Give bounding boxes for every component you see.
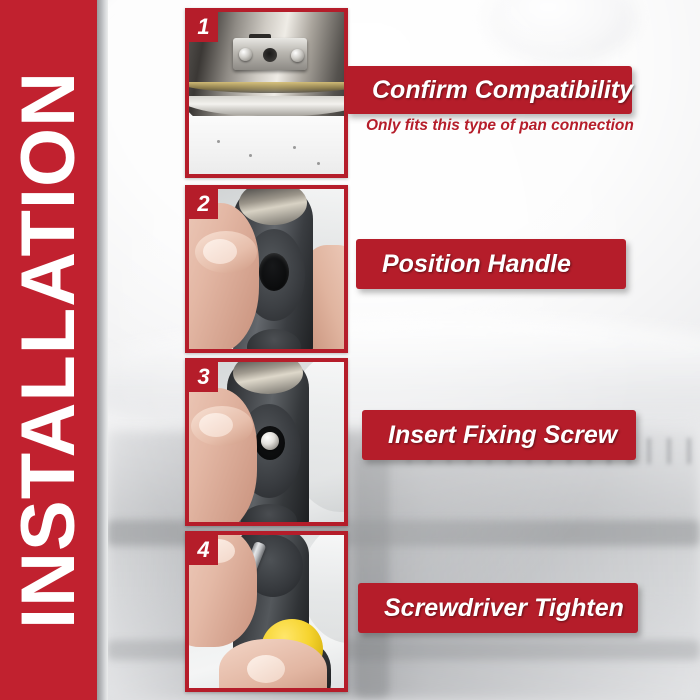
step-label-2-text: Position Handle (356, 252, 571, 277)
step-number-badge-3: 3 (189, 362, 218, 392)
step-label-3[interactable]: Insert Fixing Screw (362, 410, 636, 460)
step-number-badge-4: 4 (189, 535, 218, 565)
step-label-4[interactable]: Screwdriver Tighten (358, 583, 638, 633)
panel1-speck (317, 162, 320, 165)
step-photo-3[interactable]: 3 (185, 358, 348, 526)
panel1-rivet-right (291, 49, 304, 62)
step-number-badge-2: 2 (189, 189, 218, 219)
step-number-badge-1: 1 (189, 12, 218, 42)
panel4-fingernail (247, 655, 285, 683)
installation-banner-title: INSTALLATION (11, 71, 87, 629)
panel2-hand-left (189, 203, 259, 349)
panel3-fixing-screw (261, 432, 279, 450)
panel1-counter-surface (189, 116, 344, 174)
panel1-speck (217, 140, 220, 143)
step-label-2[interactable]: Position Handle (356, 239, 626, 289)
panel1-rivet-left (239, 48, 252, 61)
step-photo-2[interactable]: 2 (185, 185, 348, 353)
installation-banner: INSTALLATION (0, 0, 97, 700)
panel2-screw-hole (259, 253, 289, 291)
banner-shadow-divider (97, 0, 108, 700)
panel3-thumbnail (199, 413, 233, 437)
step-1-note: Only fits this type of pan connection (366, 118, 634, 134)
panel2-thumbnail (203, 239, 237, 264)
step-label-1[interactable]: Confirm Compatibility (346, 66, 632, 114)
step-label-4-text: Screwdriver Tighten (358, 596, 624, 621)
step-label-1-text: Confirm Compatibility (346, 78, 633, 103)
panel1-screw-hole (263, 48, 277, 62)
panel1-speck (293, 146, 296, 149)
step-photo-4[interactable]: 4 (185, 531, 348, 692)
step-photo-1[interactable]: 1 (185, 8, 348, 178)
step-label-3-text: Insert Fixing Screw (362, 423, 617, 448)
installation-infographic: INSTALLATION 1 Confirm Compatibility Onl… (0, 0, 700, 700)
panel1-speck (249, 154, 252, 157)
